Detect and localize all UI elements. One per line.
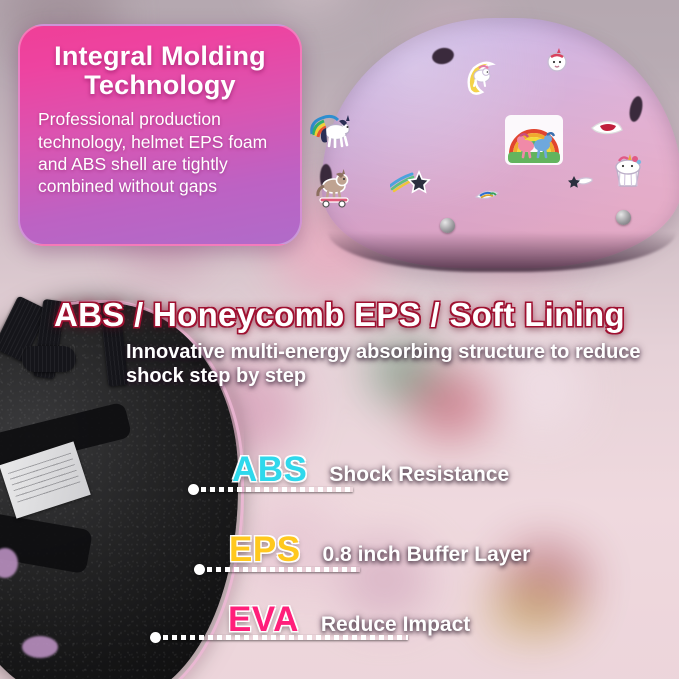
- leader-line-eva: [150, 634, 408, 641]
- helmet-shading: [322, 18, 679, 268]
- helmet-exterior: [322, 18, 679, 273]
- small-unicorn-head-sticker: [544, 48, 570, 79]
- leader-dot-eps: [194, 564, 205, 575]
- shooting-star-sticker: [390, 170, 432, 199]
- infographic-canvas: Integral Molding Technology Professional…: [0, 0, 679, 679]
- callout-body: Professional production technology, helm…: [38, 108, 282, 197]
- layer-code-abs: ABS: [232, 450, 307, 490]
- unicorn-rainbow-mane-sticker: [308, 108, 356, 153]
- page-title: ABS / Honeycomb EPS / Soft Lining: [0, 296, 679, 334]
- tiny-rainbow-sticker: [474, 188, 500, 207]
- integral-molding-callout: Integral Molding Technology Professional…: [18, 24, 302, 246]
- leader-dot-abs: [188, 484, 199, 495]
- layer-row-eps: EPS 0.8 inch Buffer Layer: [229, 530, 530, 570]
- leader-dashes-eps: [207, 567, 360, 572]
- tiny-star-sticker: [568, 174, 594, 195]
- leader-line-eps: [194, 566, 360, 573]
- layer-desc-eps: 0.8 inch Buffer Layer: [323, 543, 531, 567]
- helmet-rim: [328, 232, 676, 272]
- red-flag-sticker: [590, 118, 624, 143]
- leader-line-abs: [188, 486, 353, 493]
- helmet-rivet-left: [440, 218, 455, 233]
- layer-desc-abs: Shock Resistance: [329, 463, 509, 487]
- layer-row-abs: ABS Shock Resistance: [232, 450, 509, 490]
- layer-code-eps: EPS: [229, 530, 301, 570]
- leader-dashes-abs: [201, 487, 353, 492]
- pony-skateboard-sticker: [314, 168, 356, 213]
- unicorn-on-moon-sticker: [464, 60, 498, 103]
- leader-dot-eva: [150, 632, 161, 643]
- helmet-rivet-right: [616, 210, 631, 225]
- page-subtitle: Innovative multi-energy absorbing struct…: [126, 341, 646, 388]
- strap-adjuster: [22, 346, 76, 372]
- interior-vent-hole-2: [22, 636, 58, 658]
- leader-dashes-eva: [163, 635, 408, 640]
- unicorn-cupcake-sticker: [610, 152, 646, 195]
- callout-title: Integral Molding Technology: [38, 42, 282, 100]
- two-ponies-rainbow-sticker: [504, 114, 564, 171]
